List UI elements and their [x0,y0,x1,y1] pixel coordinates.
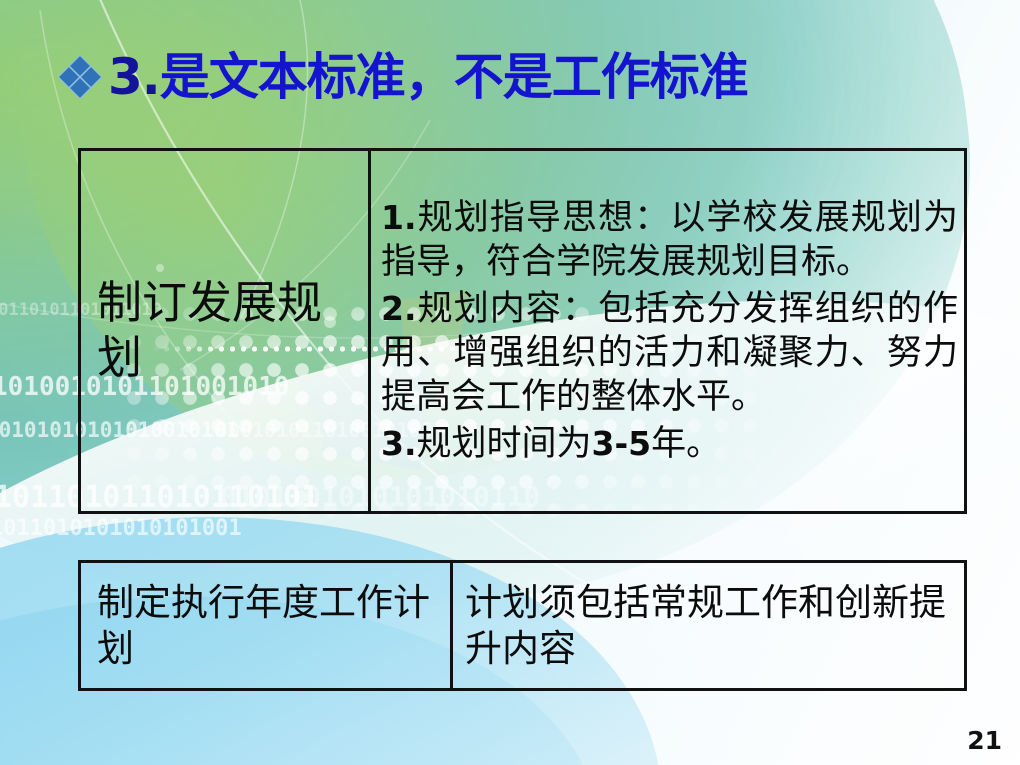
plan-item-text: 规划指导思想：以学校发展规划为指导，符合学院发展规划目标。 [381,198,958,282]
diamond-cluster-bullet-icon [58,54,104,100]
slide-title-number: 3. [108,48,160,106]
plan-item-text: 规划内容：包括充分发挥组织的作用、增强组织的活力和凝聚力、努力提高会工作的整体水… [381,289,958,418]
plan-item-text-suffix: 年。 [651,424,721,464]
slide-title: 3.是文本标准，不是工作标准 [58,44,748,110]
page-number: 21 [967,726,1002,755]
plan-item-number: 1. [381,198,417,237]
plan-list-item: 2.规划内容：包括充分发挥组织的作用、增强组织的活力和凝聚力、努力提高会工作的整… [381,287,958,420]
annual-body-text: 计划须包括常规工作和创新提升内容 [465,580,954,670]
plan-list-item: 1.规划指导思想：以学校发展规划为指导，符合学院发展规划目标。 [381,196,958,285]
table-cell-annual-body: 计划须包括常规工作和创新提升内容 [450,563,964,688]
slide-title-text: 3.是文本标准，不是工作标准 [108,52,748,102]
plan-item-number: 3. [381,424,417,463]
slide-title-label: 是文本标准，不是工作标准 [160,48,748,106]
slide-canvas: 1010010101101001010 10101010101010010101… [0,0,1020,765]
development-plan-table: 制订发展规划 1.规划指导思想：以学校发展规划为指导，符合学院发展规划目标。 2… [78,148,967,514]
table-cell-annual-label: 制定执行年度工作计划 [81,563,450,688]
plan-item-text: 规划时间为 [417,424,592,464]
annual-label-text: 制定执行年度工作计划 [91,580,440,670]
plan-list-item: 3.规划时间为3-5年。 [381,422,958,466]
table-cell-plan-label: 制订发展规划 [81,151,368,511]
annual-work-plan-table: 制定执行年度工作计划 计划须包括常规工作和创新提升内容 [78,560,967,691]
plan-label-text: 制订发展规划 [91,276,358,386]
table-cell-plan-body: 1.规划指导思想：以学校发展规划为指导，符合学院发展规划目标。 2.规划内容：包… [368,151,964,511]
plan-item-number: 2. [381,289,417,328]
plan-item-emphasis: 3-5 [592,424,652,463]
